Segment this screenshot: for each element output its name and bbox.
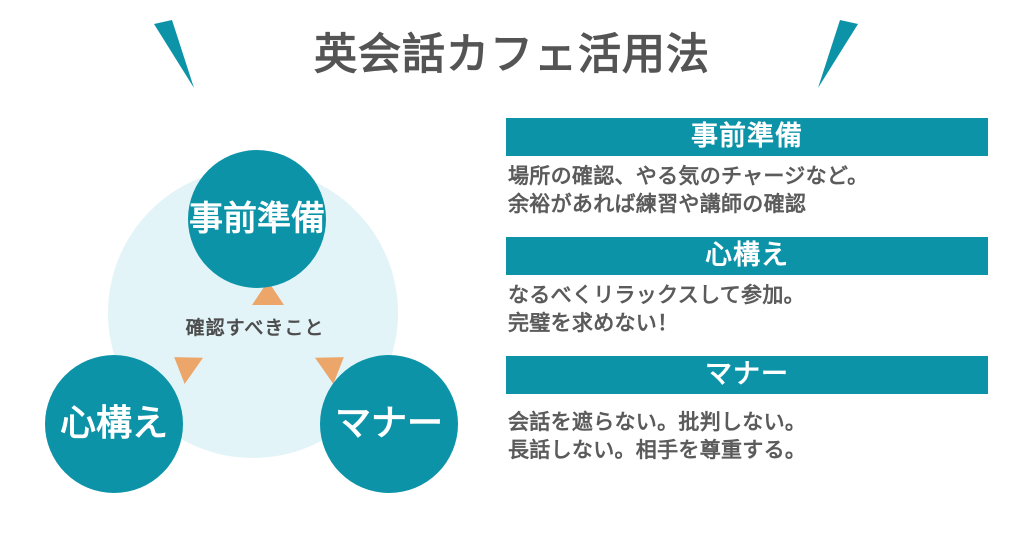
section-mindset-header: 心構え <box>506 237 988 275</box>
section-manner: マナー 会話を遮らない。批判しない。 長話しない。相手を尊重する。 <box>506 356 988 464</box>
triangle-diagram: 事前準備 心構え マナー 確認すべきこと <box>20 120 490 520</box>
detail-panel: 事前準備 場所の確認、やる気のチャージなど。 余裕があれば練習や講師の確認 心構… <box>506 118 988 483</box>
section-manner-line-2: 長話しない。相手を尊重する。 <box>508 436 988 464</box>
section-preparation-body: 場所の確認、やる気のチャージなど。 余裕があれば練習や講師の確認 <box>506 156 988 218</box>
title-bar: 英会話カフェ活用法 <box>0 18 1024 94</box>
section-preparation-header: 事前準備 <box>506 118 988 156</box>
infographic-page: 英会話カフェ活用法 事前準備 心構え マナー 確認すべきこと 事前準備 場所の確… <box>0 0 1024 538</box>
diagram-node-mindset-label: 心構え <box>60 406 168 442</box>
diagram-node-preparation[interactable]: 事前準備 <box>188 150 326 288</box>
section-mindset-body: なるべくリラックスして参加。 完璧を求めない！ <box>506 275 988 337</box>
section-preparation-line-2: 余裕があれば練習や講師の確認 <box>508 190 988 218</box>
diagram-node-preparation-label: 事前準備 <box>189 202 325 236</box>
page-title: 英会話カフェ活用法 <box>0 28 1024 82</box>
diagram-node-manner[interactable]: マナー <box>320 355 458 493</box>
diagram-node-manner-label: マナー <box>335 406 443 442</box>
diagram-center-label: 確認すべきこと <box>20 313 490 340</box>
section-mindset: 心構え なるべくリラックスして参加。 完璧を求めない！ <box>506 237 988 337</box>
section-mindset-line-2: 完璧を求めない！ <box>508 309 988 337</box>
diagram-node-mindset[interactable]: 心構え <box>45 355 183 493</box>
section-preparation-line-1: 場所の確認、やる気のチャージなど。 <box>508 162 988 190</box>
section-manner-body: 会話を遮らない。批判しない。 長話しない。相手を尊重する。 <box>506 394 988 464</box>
section-manner-line-1: 会話を遮らない。批判しない。 <box>508 408 988 436</box>
section-manner-header: マナー <box>506 356 988 394</box>
section-mindset-line-1: なるべくリラックスして参加。 <box>508 281 988 309</box>
section-preparation: 事前準備 場所の確認、やる気のチャージなど。 余裕があれば練習や講師の確認 <box>506 118 988 218</box>
